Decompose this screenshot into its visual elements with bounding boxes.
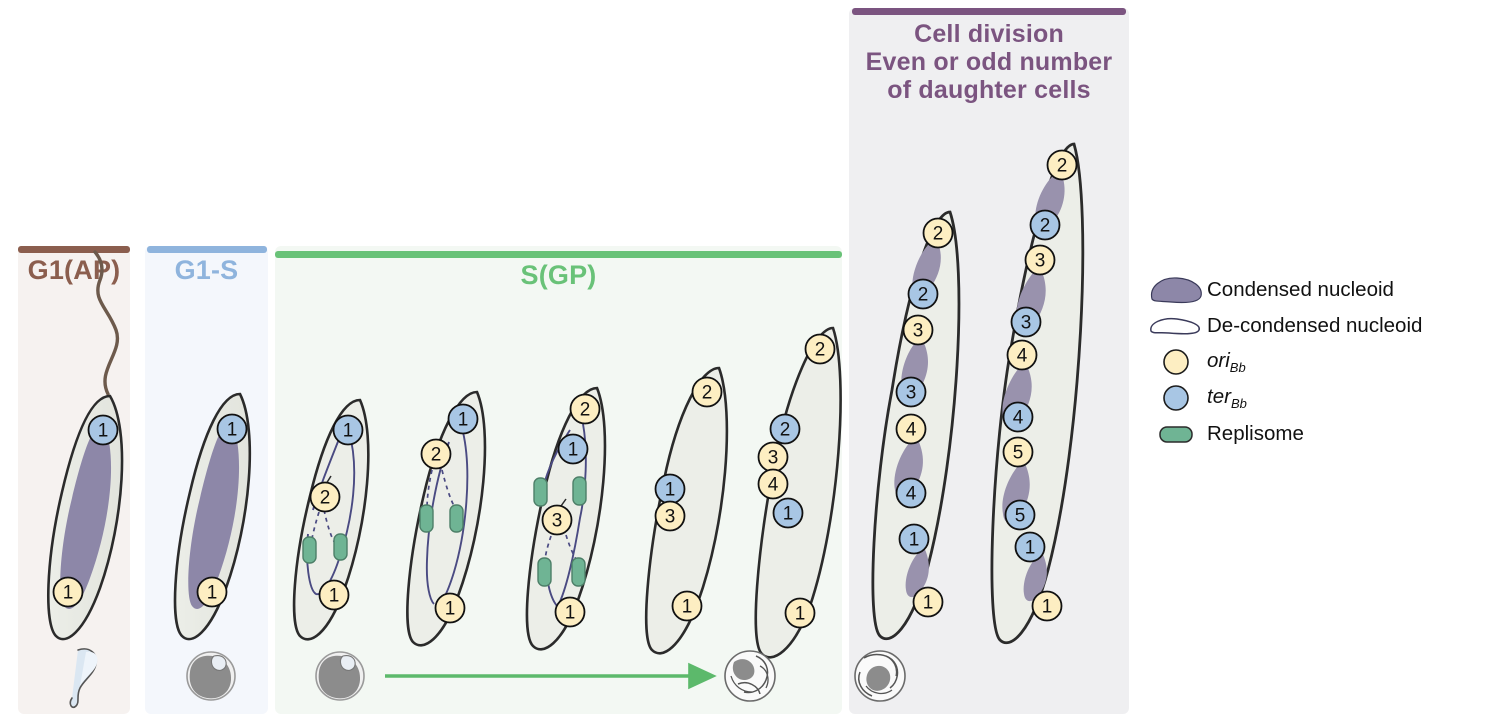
marker-value: 2: [815, 340, 826, 361]
marker-value: 3: [552, 511, 563, 532]
marker-value: 1: [665, 480, 676, 501]
marker-value: 2: [320, 488, 331, 509]
legend-label-main: ori: [1207, 349, 1230, 372]
legend-item-ter: terBb: [1145, 380, 1495, 416]
marker-value: 1: [568, 440, 579, 461]
condensed-nucleoid-icon: [1145, 275, 1207, 305]
ter-marker-1: 1: [900, 525, 929, 554]
marker-value: 1: [1025, 538, 1036, 559]
replisome-icon: [334, 534, 347, 560]
marker-value: 1: [445, 599, 456, 620]
ori-marker-2: 2: [1048, 151, 1077, 180]
marker-value: 2: [702, 383, 713, 404]
legend-item-condensed-nucleoid: Condensed nucleoid: [1145, 272, 1495, 308]
legend-label: Condensed nucleoid: [1207, 278, 1394, 302]
marker-value: 1: [923, 593, 934, 614]
ori-marker-3: 3: [656, 502, 685, 531]
ori-marker-1: 1: [436, 594, 465, 623]
marker-value: 5: [1015, 506, 1026, 527]
ori-marker-2: 2: [806, 335, 835, 364]
ori-marker-1: 1: [556, 598, 585, 627]
replisome-icon: [303, 537, 316, 563]
legend: Condensed nucleoid De-condensed nucleoid…: [1145, 272, 1495, 452]
marker-value: 3: [665, 507, 676, 528]
ter-marker-2: 2: [1031, 211, 1060, 240]
marker-value: 1: [329, 586, 340, 607]
ter-marker-5: 5: [1006, 501, 1035, 530]
marker-value: 2: [933, 224, 944, 245]
marker-value: 1: [207, 583, 218, 604]
micrograph-g1ap: [70, 649, 97, 707]
ter-marker-1: 1: [559, 435, 588, 464]
ori-marker-3: 3: [1026, 246, 1055, 275]
decondensed-nucleoid-icon: [1145, 314, 1207, 338]
marker-value: 2: [780, 420, 791, 441]
marker-value: 2: [1057, 156, 1068, 177]
marker-value: 1: [682, 597, 693, 618]
ori-marker-3: 3: [543, 506, 572, 535]
ter-marker-4: 4: [897, 479, 926, 508]
ori-marker-3: 3: [904, 316, 933, 345]
ori-marker-5: 5: [1004, 438, 1033, 467]
legend-item-decondensed-nucleoid: De-condensed nucleoid: [1145, 308, 1495, 344]
marker-value: 1: [63, 583, 74, 604]
marker-value: 1: [783, 504, 794, 525]
ter-marker-1: 1: [89, 416, 118, 445]
marker-value: 2: [580, 400, 591, 421]
marker-value: 4: [906, 420, 917, 441]
ter-marker-1: 1: [774, 499, 803, 528]
legend-label: Replisome: [1207, 422, 1304, 446]
marker-value: 1: [565, 603, 576, 624]
marker-value: 1: [343, 421, 354, 442]
legend-label: terBb: [1207, 385, 1247, 411]
replisome-icon: [450, 505, 463, 532]
legend-label-main: ter: [1207, 385, 1231, 408]
ori-marker-1: 1: [54, 578, 83, 607]
ori-marker-4: 4: [1008, 341, 1037, 370]
legend-label: De-condensed nucleoid: [1207, 314, 1422, 338]
ori-marker-2: 2: [693, 378, 722, 407]
replisome-icon: [1145, 423, 1207, 445]
marker-value: 4: [906, 484, 917, 505]
marker-value: 2: [431, 445, 442, 466]
replisome-icon: [538, 558, 551, 586]
replisome-icon: [534, 478, 547, 506]
marker-value: 4: [1013, 408, 1024, 429]
ori-marker-1: 1: [1033, 592, 1062, 621]
marker-value: 1: [458, 410, 469, 431]
ori-marker-4: 4: [897, 415, 926, 444]
marker-value: 3: [913, 321, 924, 342]
marker-value: 4: [1017, 346, 1028, 367]
legend-item-ori: oriBb: [1145, 344, 1495, 380]
micrograph-sgp-start: [316, 652, 364, 700]
marker-value: 1: [98, 421, 109, 442]
ter-marker-1: 1: [449, 405, 478, 434]
ter-marker-2: 2: [909, 280, 938, 309]
marker-value: 1: [795, 604, 806, 625]
micrograph-g1s: [187, 652, 235, 700]
ter-marker-1: 1: [656, 475, 685, 504]
legend-label-sub: Bb: [1231, 396, 1247, 411]
ori-marker-icon: [1145, 347, 1207, 377]
ter-marker-1: 1: [1016, 533, 1045, 562]
ori-marker-1: 1: [198, 578, 227, 607]
ter-marker-1: 1: [218, 415, 247, 444]
ter-marker-1: 1: [334, 416, 363, 445]
ter-marker-4: 4: [1004, 403, 1033, 432]
ori-marker-1: 1: [320, 581, 349, 610]
ori-marker-1: 1: [673, 592, 702, 621]
ori-marker-1: 1: [786, 599, 815, 628]
marker-value: 2: [1040, 216, 1051, 237]
marker-value: 4: [768, 475, 779, 496]
ori-marker-2: 2: [422, 440, 451, 469]
flagellum-icon: [95, 252, 117, 394]
marker-value: 1: [227, 420, 238, 441]
marker-value: 3: [768, 448, 779, 469]
marker-value: 5: [1013, 443, 1024, 464]
ori-marker-1: 1: [914, 588, 943, 617]
micrograph-sgp-end: [725, 651, 775, 701]
replisome-icon: [420, 505, 433, 532]
marker-value: 3: [906, 383, 917, 404]
ori-marker-2: 2: [311, 483, 340, 512]
ter-marker-3: 3: [897, 378, 926, 407]
ori-marker-2: 2: [571, 395, 600, 424]
replisome-icon: [572, 558, 585, 586]
micrograph-division: [855, 651, 905, 701]
marker-value: 1: [909, 530, 920, 551]
ori-marker-3: 3: [759, 443, 788, 472]
ter-marker-3: 3: [1012, 308, 1041, 337]
marker-value: 3: [1021, 313, 1032, 334]
ori-marker-2: 2: [924, 219, 953, 248]
legend-label: oriBb: [1207, 349, 1246, 375]
ter-marker-icon: [1145, 383, 1207, 413]
replisome-icon: [573, 477, 586, 505]
ori-marker-4: 4: [759, 470, 788, 499]
legend-item-replisome: Replisome: [1145, 416, 1495, 452]
marker-value: 3: [1035, 251, 1046, 272]
marker-value: 2: [918, 285, 929, 306]
marker-value: 1: [1042, 597, 1053, 618]
ter-marker-2: 2: [771, 415, 800, 444]
legend-label-sub: Bb: [1230, 360, 1246, 375]
